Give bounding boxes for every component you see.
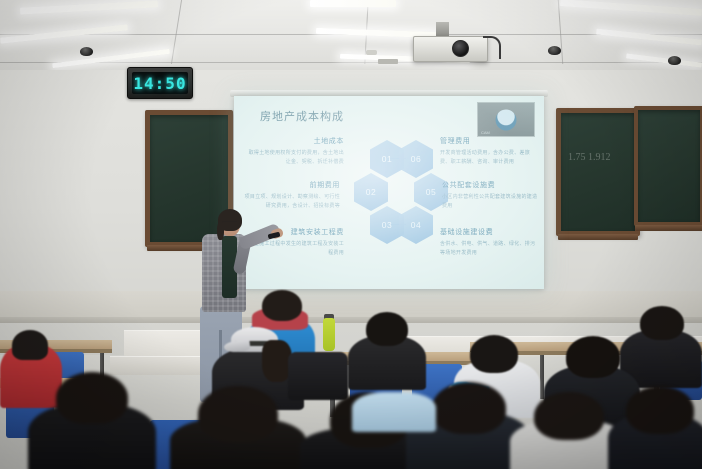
ceiling-speaker-icon (80, 47, 93, 56)
projector-mount (436, 22, 449, 36)
hexagon-04: 04 (399, 206, 433, 244)
clock-time: 14:50 (133, 74, 186, 93)
clock-face: 14:50 (132, 72, 188, 94)
blackboard-far-right (634, 106, 702, 226)
slide-title: 房地产成本构成 (260, 108, 344, 124)
projector-lens-icon (452, 40, 469, 57)
slide-block-04-heading: 基础设施建设费 (440, 227, 536, 237)
webcam-avatar-icon (496, 109, 517, 130)
blackboard-right-text: 1.75 1.912 (568, 148, 620, 167)
backpack (288, 352, 348, 400)
slide-block-05: 公共配套设施费 小区内非营利性公共配套建筑设施的建造费用 (442, 180, 538, 211)
projection-screen: 房地产成本构成 CAM 01 06 02 05 03 04 土地成本 取得土地使… (234, 96, 544, 289)
slide-block-05-detail: 小区内非营利性公共配套建筑设施的建造费用 (442, 193, 538, 211)
ceiling-light (310, 0, 396, 7)
ceiling-vent-icon (378, 59, 398, 64)
slide-block-02-detail: 项目立项、规划设计、勘察测绘、可行性研究费用，含设计、招投标费等 (244, 193, 340, 211)
slide-block-05-heading: 公共配套设施费 (442, 180, 538, 190)
slide-block-06-heading: 管理费用 (440, 136, 536, 146)
ceiling-light (626, 53, 702, 67)
wall-trim (0, 291, 702, 317)
slide-webcam-inset: CAM (477, 102, 535, 137)
wall-baseboard (0, 317, 702, 323)
slide-block-06: 管理费用 开发商管理活动费用，含办公费、差旅费、职工薪酬、咨询、审计费用 (440, 136, 536, 167)
slide-block-02-heading: 前期费用 (244, 180, 340, 190)
digital-wall-clock: 14:50 (127, 67, 193, 99)
hexagon-01: 01 (370, 140, 404, 178)
ceiling-projector (413, 36, 488, 62)
hexagon-cluster: 01 06 02 05 03 04 (352, 140, 434, 246)
ceiling-speaker-icon (548, 46, 561, 55)
projector-cable (483, 36, 501, 59)
ceiling-light (20, 0, 158, 14)
chalk-tray (635, 225, 702, 231)
slide-block-01: 土地成本 取得土地使用权所支付的费用，含土地出让金、契税、拆迁补偿费 (248, 136, 344, 167)
hexagon-03: 03 (370, 206, 404, 244)
slide-block-04: 基础设施建设费 含供水、供电、供气、道路、绿化、排污等场地开发费用 (440, 227, 536, 258)
ceiling (0, 0, 702, 72)
slide-block-01-detail: 取得土地使用权所支付的费用，含土地出让金、契税、拆迁补偿费 (248, 149, 344, 167)
blackboard-right (556, 108, 640, 236)
ceiling-speaker-icon (668, 56, 681, 65)
ceiling-sensor-icon (366, 50, 377, 55)
slide-block-06-detail: 开发商管理活动费用，含办公费、差旅费、职工薪酬、咨询、审计费用 (440, 149, 536, 167)
water-bottle (323, 318, 335, 351)
slide-block-01-heading: 土地成本 (248, 136, 344, 146)
chalk-tray (558, 234, 638, 240)
presenter-glasses-icon (222, 221, 237, 225)
ceiling-light (52, 49, 170, 68)
ceiling-light (596, 28, 702, 45)
slide-block-03-detail: 房屋施工过程中发生的建筑工程及安装工程费用 (248, 240, 344, 258)
slide-block-02: 前期费用 项目立项、规划设计、勘察测绘、可行性研究费用，含设计、招投标费等 (244, 180, 340, 211)
webcam-label: CAM (481, 130, 490, 135)
slide-block-04-detail: 含供水、供电、供气、道路、绿化、排污等场地开发费用 (440, 240, 536, 258)
lecture-hall-photo: 14:50 1.75 1.912 房地产成本构成 CAM 01 06 02 05… (0, 0, 702, 469)
hexagon-06: 06 (399, 140, 433, 178)
ceiling-light (560, 0, 702, 16)
hexagon-02: 02 (354, 173, 388, 211)
